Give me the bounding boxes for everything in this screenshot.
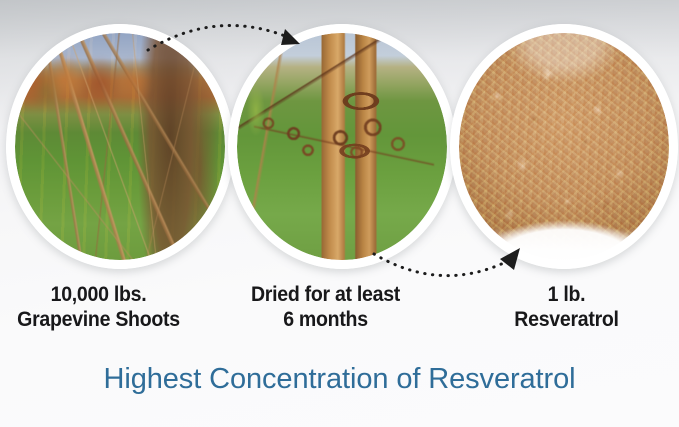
step-captions: 10,000 lbs. Grapevine Shoots Dried for a…	[0, 282, 679, 348]
caption-grapevine-shoots: 10,000 lbs. Grapevine Shoots	[0, 282, 203, 348]
resveratrol-process-infographic: 10,000 lbs. Grapevine Shoots Dried for a…	[0, 0, 679, 427]
caption-line-label: Resveratrol	[462, 307, 671, 332]
photo-powder	[459, 33, 669, 260]
caption-drying: Dried for at least 6 months	[221, 282, 430, 348]
caption-line-amount: Dried for at least	[221, 282, 430, 307]
tendrils-photo-content	[237, 33, 447, 260]
vineyard-photo-content	[15, 33, 225, 260]
photo-vineyard	[15, 33, 225, 260]
caption-line-amount: 10,000 lbs.	[0, 282, 203, 307]
caption-line-label: Grapevine Shoots	[0, 307, 203, 332]
caption-resveratrol: 1 lb. Resveratrol	[462, 282, 671, 348]
headline: Highest Concentration of Resveratrol	[0, 363, 679, 396]
step-image-drying	[228, 24, 456, 269]
caption-line-label: 6 months	[221, 307, 430, 332]
step-image-grapevine-shoots	[6, 24, 234, 269]
caption-line-amount: 1 lb.	[462, 282, 671, 307]
photo-tendrils	[237, 33, 447, 260]
powder-photo-content	[459, 33, 669, 260]
step-image-resveratrol-powder	[450, 24, 678, 269]
